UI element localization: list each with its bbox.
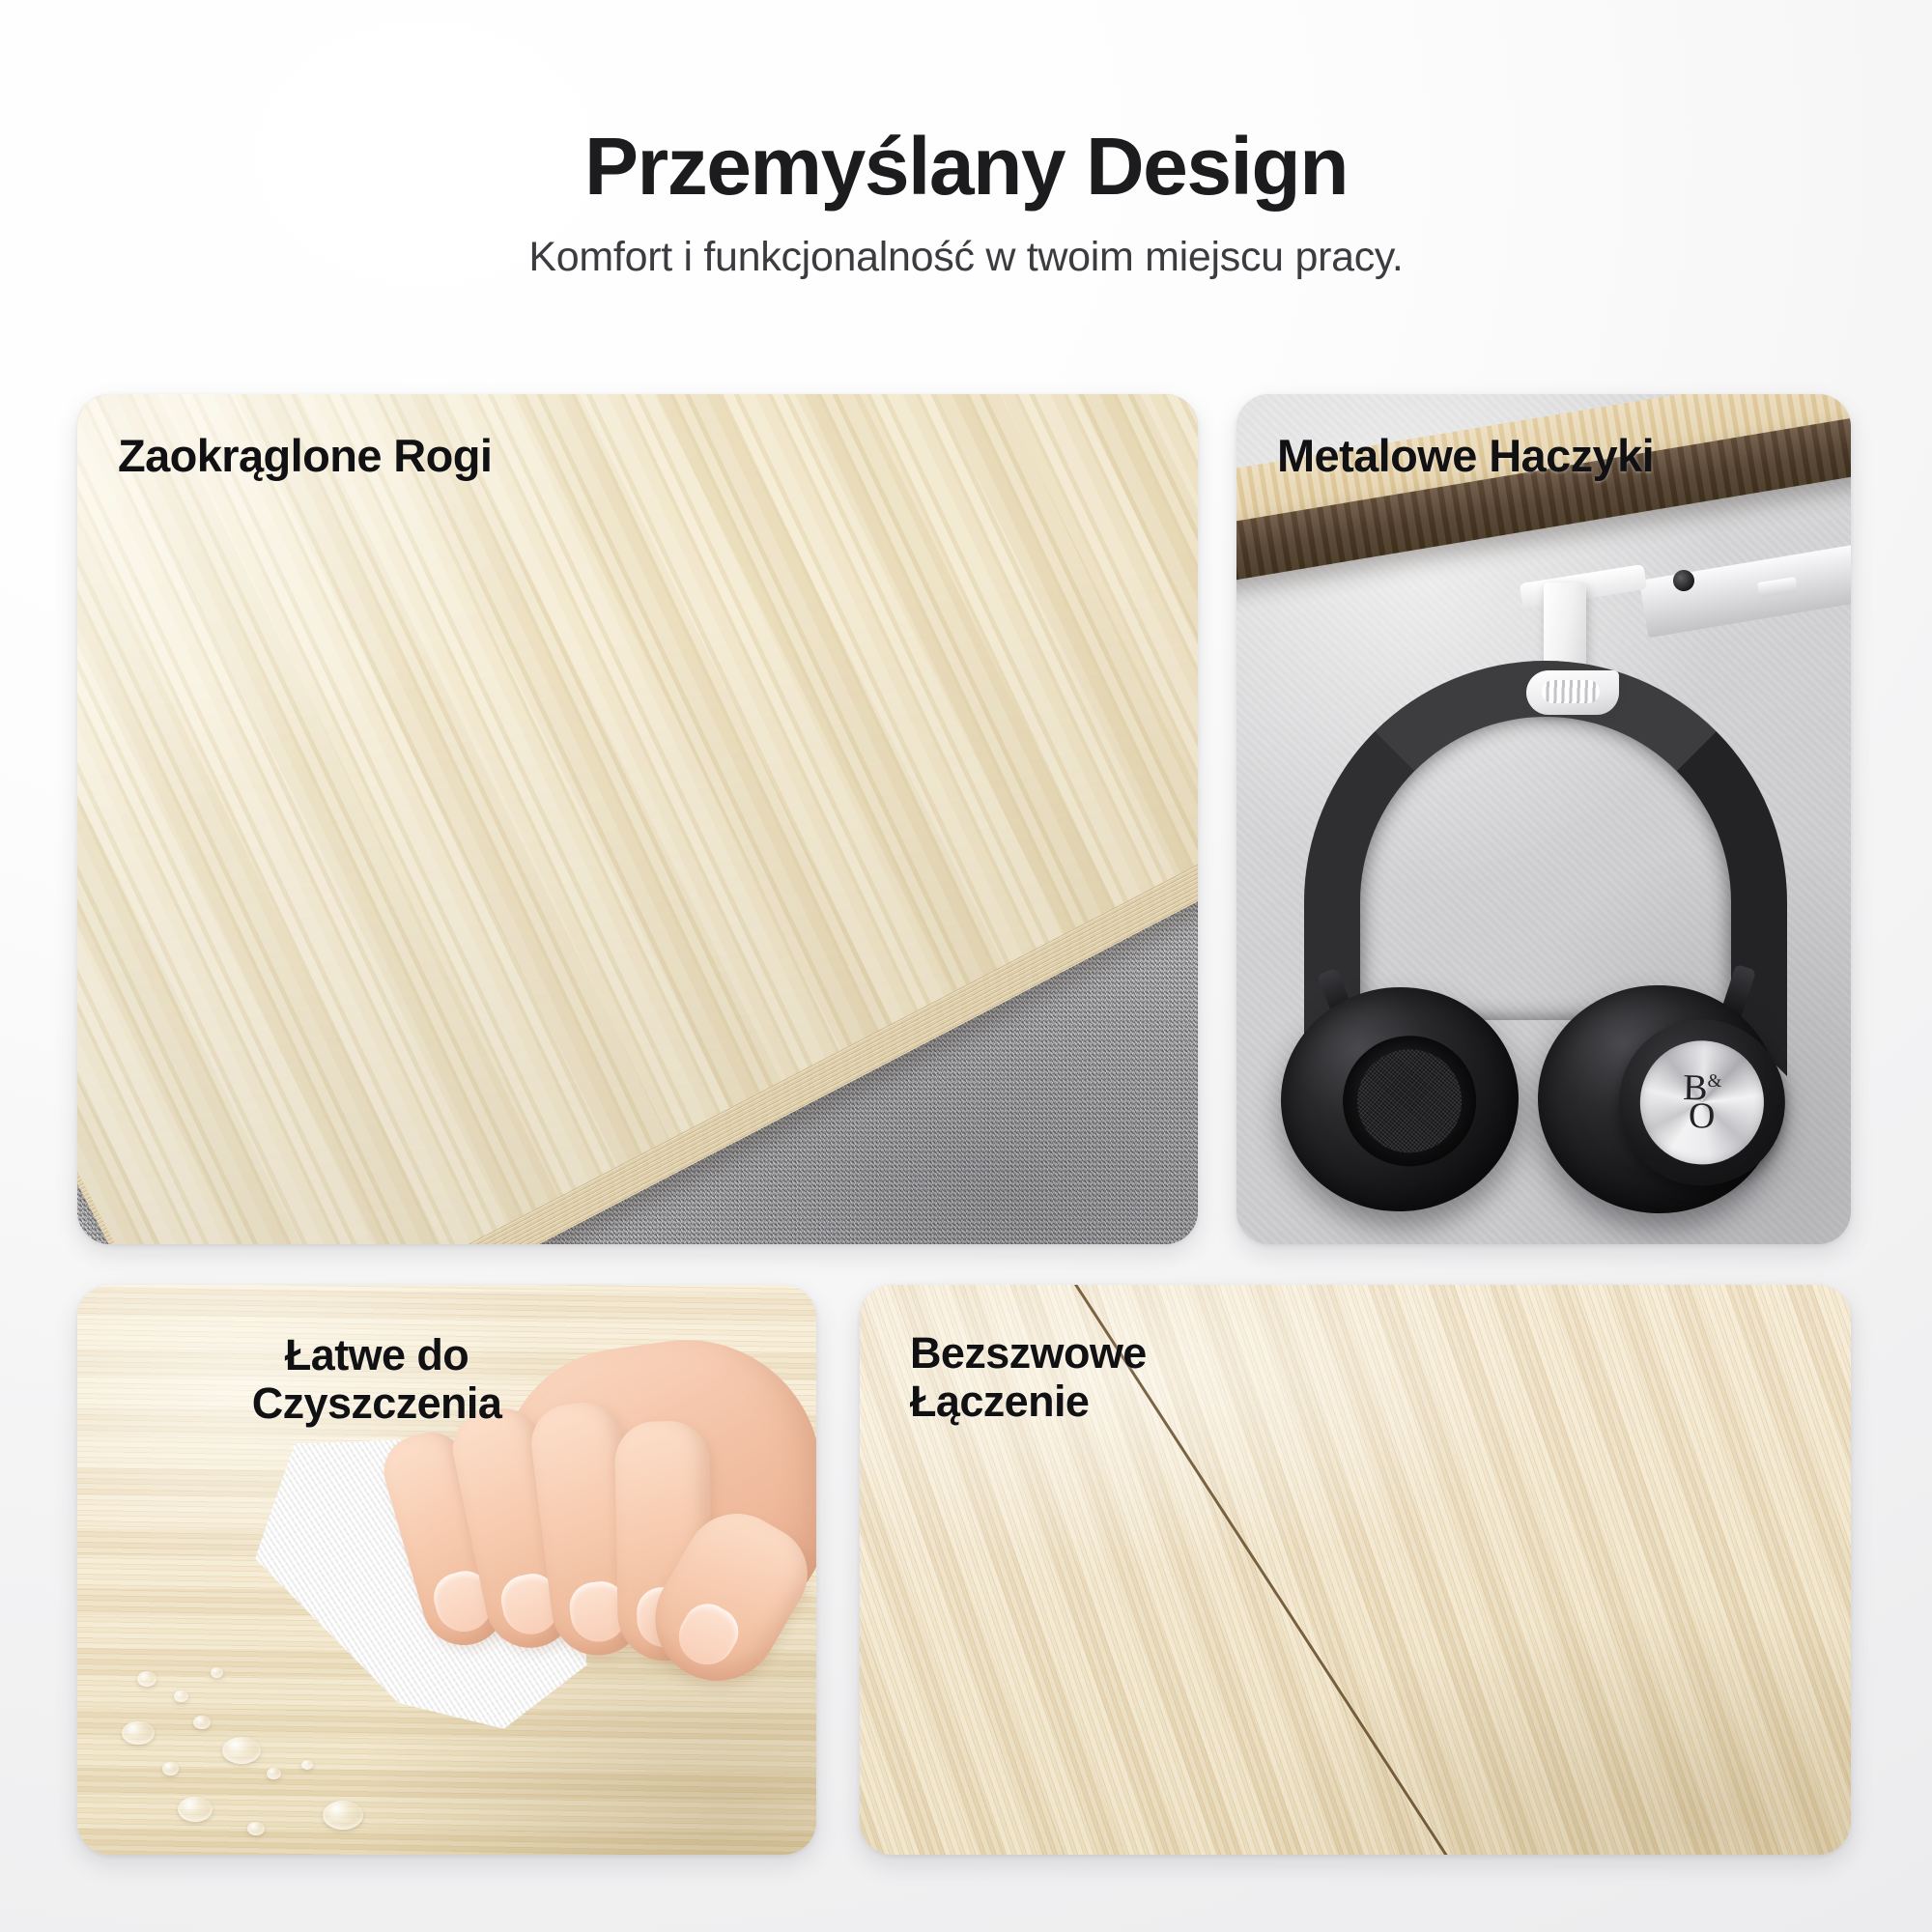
card-label-metal-hooks: Metalowe Haczyki	[1277, 431, 1654, 482]
headphone-hook-icon	[1526, 670, 1619, 715]
feature-card-seamless-join[interactable]: Bezszwowe Łączenie	[860, 1285, 1851, 1855]
card-label-line-2: Łączenie	[910, 1378, 1147, 1426]
card-label-easy-clean: Łatwe do Czyszczenia	[77, 1331, 676, 1429]
card-label-line-1: Bezszwowe	[910, 1329, 1147, 1378]
feature-card-easy-clean[interactable]: Łatwe do Czyszczenia	[77, 1285, 816, 1855]
card-label-rounded-corners: Zaokrąglone Rogi	[118, 431, 492, 482]
water-droplet	[301, 1760, 313, 1770]
feature-card-grid: Zaokrąglone Rogi B&O	[77, 394, 1851, 1855]
water-droplet	[211, 1667, 223, 1678]
water-droplet	[247, 1822, 265, 1835]
card-label-seamless-join: Bezszwowe Łączenie	[910, 1329, 1147, 1427]
bo-brand-logo: B&O	[1682, 1074, 1721, 1130]
earcup-metal-plate: B&O	[1637, 1038, 1767, 1168]
water-droplet	[122, 1721, 155, 1745]
water-droplet	[137, 1671, 156, 1687]
page-title: Przemyślany Design	[0, 124, 1932, 209]
water-droplet	[193, 1716, 211, 1729]
water-droplet	[162, 1762, 179, 1776]
water-droplet	[178, 1797, 213, 1822]
card-label-line-1: Łatwe do	[77, 1331, 676, 1379]
water-droplet	[174, 1690, 188, 1702]
feature-card-rounded-corners[interactable]: Zaokrąglone Rogi	[77, 394, 1198, 1244]
header: Przemyślany Design Komfort i funkcjonaln…	[0, 0, 1932, 281]
card-label-line-2: Czyszczenia	[77, 1379, 676, 1428]
page-subtitle: Komfort i funkcjonalność w twoim miejscu…	[0, 234, 1932, 281]
water-droplet	[267, 1768, 281, 1779]
feature-card-metal-hooks[interactable]: B&O Metalowe Haczyki	[1236, 394, 1851, 1244]
water-droplet	[323, 1801, 363, 1830]
thumbnail	[668, 1595, 747, 1675]
water-droplet	[222, 1737, 261, 1764]
